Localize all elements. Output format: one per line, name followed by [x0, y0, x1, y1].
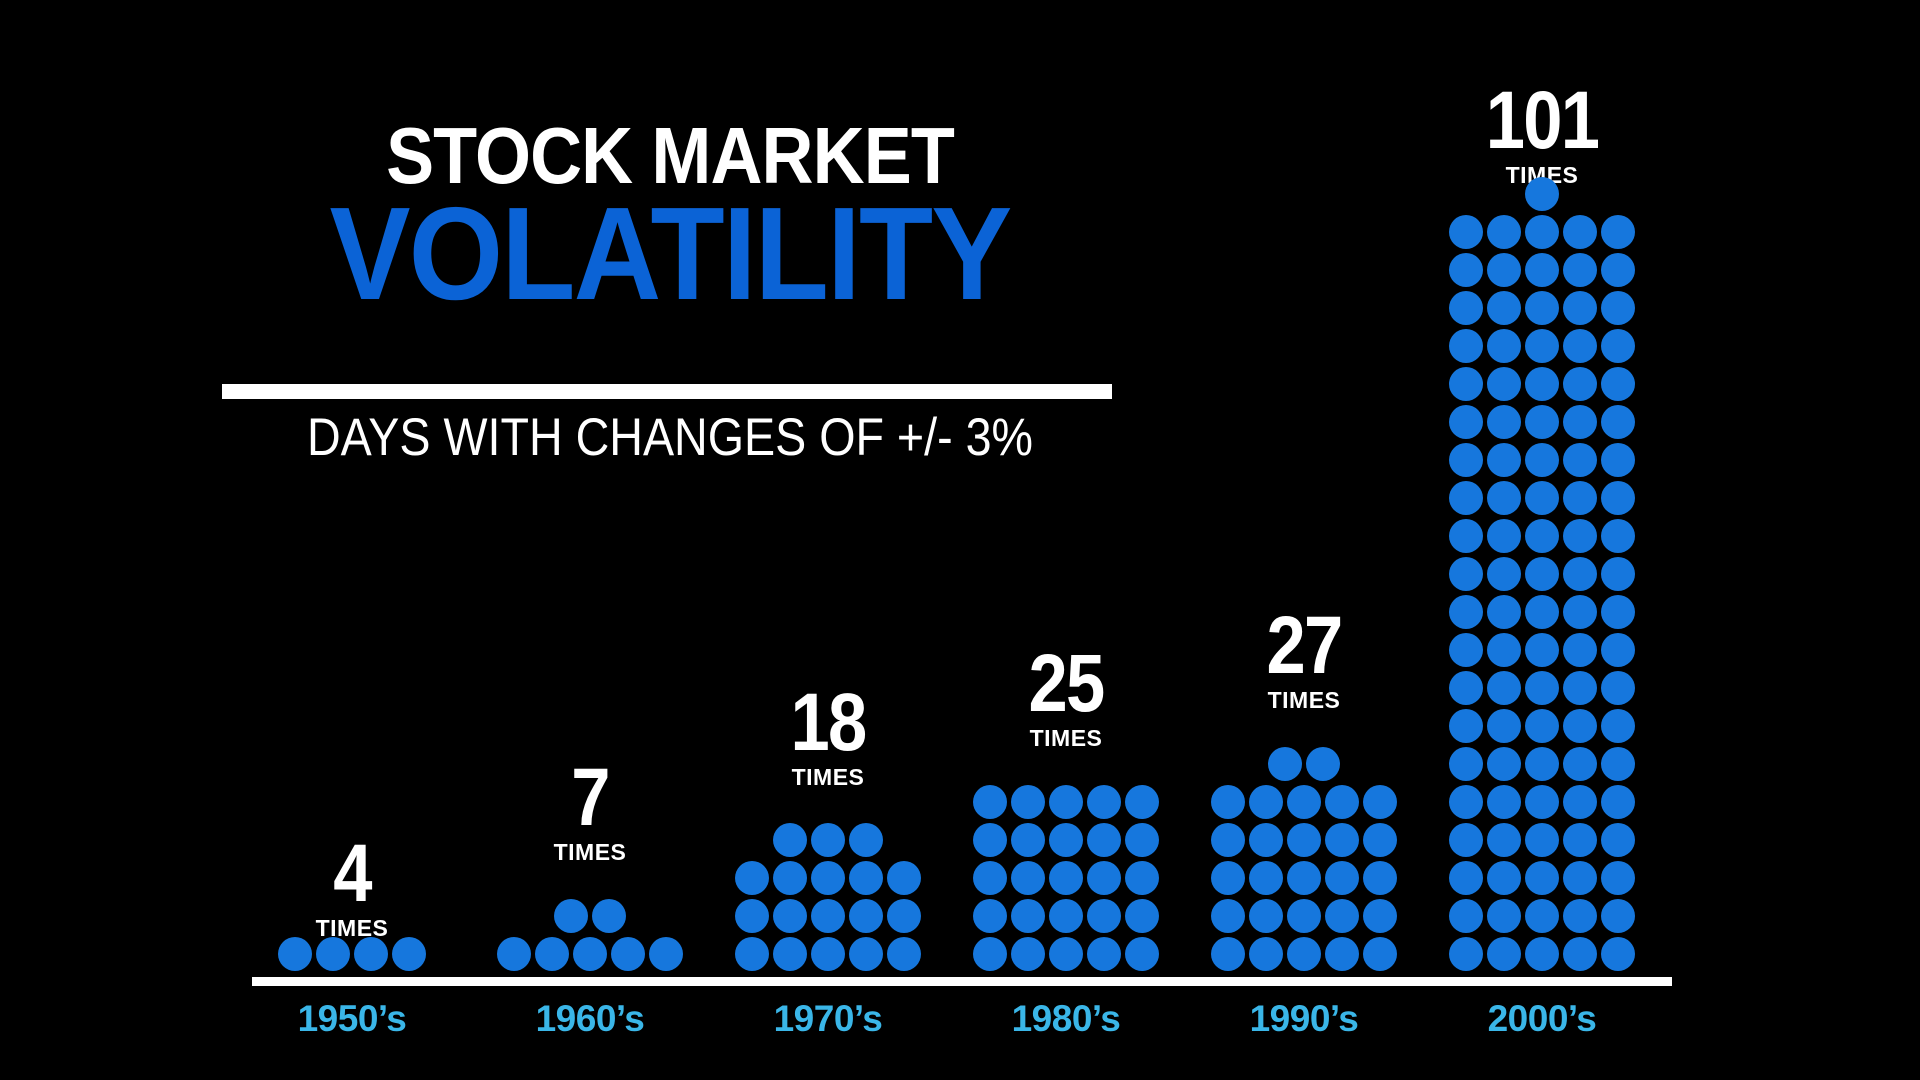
- unit-dot: [1249, 937, 1283, 971]
- dot-row: [1447, 595, 1637, 633]
- dot-row: [1209, 861, 1399, 899]
- dot-row: [1447, 291, 1637, 329]
- unit-dot: [1487, 709, 1521, 743]
- decade-label: 2000’s: [1442, 998, 1642, 1040]
- dot-row: [1209, 823, 1399, 861]
- unit-dot: [1563, 861, 1597, 895]
- unit-dot: [1563, 329, 1597, 363]
- unit-dot: [1487, 519, 1521, 553]
- unit-dot: [1563, 899, 1597, 933]
- unit-dot: [278, 937, 312, 971]
- unit-dot: [1125, 785, 1159, 819]
- unit-dot: [1087, 785, 1121, 819]
- unit-dot: [1525, 253, 1559, 287]
- unit-dot: [1487, 633, 1521, 667]
- unit-dot: [1525, 329, 1559, 363]
- decade-group: 7TIMES1960’s: [490, 0, 690, 1080]
- unit-dot: [1268, 747, 1302, 781]
- unit-dot: [1601, 595, 1635, 629]
- dot-row: [771, 823, 885, 861]
- dot-row: [1447, 899, 1637, 937]
- dot-row: [1447, 785, 1637, 823]
- unit-dot: [1601, 823, 1635, 857]
- unit-dot: [1125, 899, 1159, 933]
- unit-dot: [497, 937, 531, 971]
- dot-row: [1447, 405, 1637, 443]
- unit-dot: [1487, 215, 1521, 249]
- unit-dot: [1011, 937, 1045, 971]
- unit-dot: [973, 785, 1007, 819]
- unit-dot: [1601, 709, 1635, 743]
- decade-count: 27TIMES: [1204, 610, 1404, 716]
- dot-row: [971, 861, 1161, 899]
- unit-dot: [1325, 861, 1359, 895]
- unit-dot: [1363, 861, 1397, 895]
- dot-stack: [1442, 177, 1642, 975]
- unit-dot: [1449, 785, 1483, 819]
- unit-dot: [773, 899, 807, 933]
- unit-dot: [1363, 823, 1397, 857]
- unit-dot: [1601, 443, 1635, 477]
- unit-dot: [1601, 899, 1635, 933]
- count-value: 7: [504, 762, 676, 834]
- unit-dot: [1449, 329, 1483, 363]
- dot-row: [733, 861, 923, 899]
- dot-row: [1447, 519, 1637, 557]
- dot-row: [971, 937, 1161, 975]
- unit-dot: [1287, 785, 1321, 819]
- unit-dot: [849, 823, 883, 857]
- dot-row: [495, 937, 685, 975]
- count-value: 27: [1218, 610, 1390, 682]
- unit-dot: [1563, 481, 1597, 515]
- unit-dot: [1525, 671, 1559, 705]
- decade-group: 25TIMES1980’s: [966, 0, 1166, 1080]
- unit-dot: [1487, 443, 1521, 477]
- unit-dot: [1087, 861, 1121, 895]
- dot-row: [1447, 443, 1637, 481]
- unit-dot: [554, 899, 588, 933]
- dot-row: [1447, 709, 1637, 747]
- unit-dot: [1525, 785, 1559, 819]
- unit-dot: [849, 899, 883, 933]
- decade-label: 1950’s: [252, 998, 452, 1040]
- decade-group: 101TIMES2000’s: [1442, 0, 1642, 1080]
- dot-row: [971, 823, 1161, 861]
- unit-dot: [1011, 785, 1045, 819]
- decade-count: 25TIMES: [966, 648, 1166, 754]
- unit-dot: [1087, 823, 1121, 857]
- unit-dot: [1525, 177, 1559, 211]
- unit-dot: [1487, 405, 1521, 439]
- dot-row: [1447, 253, 1637, 291]
- unit-dot: [1563, 671, 1597, 705]
- dot-row: [1447, 329, 1637, 367]
- unit-dot: [1601, 861, 1635, 895]
- dot-row: [1209, 937, 1399, 975]
- dot-row: [1209, 785, 1399, 823]
- unit-dot: [973, 861, 1007, 895]
- unit-dot: [1487, 481, 1521, 515]
- unit-dot: [1249, 785, 1283, 819]
- unit-dot: [735, 899, 769, 933]
- unit-dot: [1487, 291, 1521, 325]
- unit-dot: [1487, 595, 1521, 629]
- unit-dot: [1211, 861, 1245, 895]
- unit-dot: [1563, 633, 1597, 667]
- unit-dot: [1563, 215, 1597, 249]
- unit-dot: [1563, 823, 1597, 857]
- unit-dot: [1525, 557, 1559, 591]
- pictogram-chart: 4TIMES1950’s7TIMES1960’s18TIMES1970’s25T…: [0, 0, 1920, 1080]
- unit-dot: [1249, 861, 1283, 895]
- dot-stack: [490, 899, 690, 975]
- unit-dot: [1601, 367, 1635, 401]
- unit-dot: [1449, 253, 1483, 287]
- dot-row: [1523, 177, 1561, 215]
- unit-dot: [535, 937, 569, 971]
- dot-row: [1447, 215, 1637, 253]
- decade-group: 18TIMES1970’s: [728, 0, 928, 1080]
- unit-dot: [1525, 405, 1559, 439]
- unit-dot: [1449, 899, 1483, 933]
- unit-dot: [1563, 937, 1597, 971]
- unit-dot: [973, 823, 1007, 857]
- unit-dot: [1325, 785, 1359, 819]
- unit-dot: [1525, 215, 1559, 249]
- unit-dot: [1449, 671, 1483, 705]
- decade-count: 4TIMES: [252, 838, 452, 944]
- unit-dot: [773, 937, 807, 971]
- unit-dot: [1449, 595, 1483, 629]
- unit-dot: [773, 861, 807, 895]
- unit-dot: [1049, 861, 1083, 895]
- unit-dot: [1449, 367, 1483, 401]
- dot-row: [552, 899, 628, 937]
- unit-dot: [1601, 291, 1635, 325]
- unit-dot: [1601, 557, 1635, 591]
- decade-label: 1980’s: [966, 998, 1166, 1040]
- unit-dot: [1049, 823, 1083, 857]
- unit-dot: [1601, 253, 1635, 287]
- unit-dot: [1525, 595, 1559, 629]
- unit-dot: [354, 937, 388, 971]
- dot-row: [1447, 671, 1637, 709]
- unit-dot: [1449, 215, 1483, 249]
- unit-dot: [973, 899, 1007, 933]
- unit-dot: [1011, 861, 1045, 895]
- unit-dot: [1449, 823, 1483, 857]
- unit-dot: [1601, 633, 1635, 667]
- unit-dot: [316, 937, 350, 971]
- dot-row: [1447, 633, 1637, 671]
- decade-label: 1960’s: [490, 998, 690, 1040]
- unit-dot: [1449, 633, 1483, 667]
- unit-dot: [773, 823, 807, 857]
- dot-row: [733, 899, 923, 937]
- unit-dot: [1525, 709, 1559, 743]
- dot-row: [1447, 861, 1637, 899]
- unit-dot: [1449, 747, 1483, 781]
- unit-dot: [592, 899, 626, 933]
- unit-dot: [1325, 937, 1359, 971]
- unit-dot: [1525, 861, 1559, 895]
- unit-dot: [1011, 823, 1045, 857]
- unit-dot: [1525, 747, 1559, 781]
- unit-dot: [1449, 481, 1483, 515]
- unit-dot: [1449, 937, 1483, 971]
- dot-row: [1209, 899, 1399, 937]
- unit-dot: [1287, 823, 1321, 857]
- unit-dot: [1249, 899, 1283, 933]
- unit-dot: [1525, 899, 1559, 933]
- decade-label: 1990’s: [1204, 998, 1404, 1040]
- unit-dot: [887, 899, 921, 933]
- unit-dot: [1449, 861, 1483, 895]
- unit-dot: [1563, 747, 1597, 781]
- unit-dot: [1449, 291, 1483, 325]
- unit-dot: [1487, 937, 1521, 971]
- unit-dot: [1011, 899, 1045, 933]
- unit-dot: [887, 937, 921, 971]
- unit-dot: [1525, 481, 1559, 515]
- unit-dot: [1249, 823, 1283, 857]
- infographic-canvas: STOCK MARKET VOLATILITY DAYS WITH CHANGE…: [0, 0, 1920, 1080]
- unit-dot: [1525, 367, 1559, 401]
- unit-dot: [1525, 519, 1559, 553]
- unit-dot: [1325, 823, 1359, 857]
- dot-row: [1447, 747, 1637, 785]
- unit-dot: [1487, 253, 1521, 287]
- unit-dot: [1363, 899, 1397, 933]
- unit-dot: [1487, 557, 1521, 591]
- dot-stack: [966, 785, 1166, 975]
- unit-dot: [1525, 823, 1559, 857]
- dot-row: [733, 937, 923, 975]
- unit-dot: [735, 937, 769, 971]
- dot-stack: [252, 937, 452, 975]
- unit-dot: [611, 937, 645, 971]
- dot-row: [1447, 823, 1637, 861]
- dot-row: [971, 899, 1161, 937]
- unit-dot: [1487, 861, 1521, 895]
- unit-dot: [1487, 367, 1521, 401]
- dot-row: [276, 937, 428, 975]
- unit-dot: [573, 937, 607, 971]
- dot-row: [1447, 481, 1637, 519]
- dot-stack: [728, 823, 928, 975]
- count-value: 25: [980, 648, 1152, 720]
- unit-dot: [1211, 785, 1245, 819]
- unit-dot: [1601, 405, 1635, 439]
- unit-dot: [1563, 785, 1597, 819]
- unit-dot: [1363, 785, 1397, 819]
- unit-dot: [1449, 519, 1483, 553]
- unit-dot: [1601, 747, 1635, 781]
- decade-group: 27TIMES1990’s: [1204, 0, 1404, 1080]
- unit-dot: [1211, 899, 1245, 933]
- unit-dot: [1601, 671, 1635, 705]
- dot-row: [1266, 747, 1342, 785]
- unit-dot: [1601, 215, 1635, 249]
- decade-label: 1970’s: [728, 998, 928, 1040]
- unit-dot: [1601, 785, 1635, 819]
- unit-dot: [1211, 823, 1245, 857]
- unit-dot: [1601, 519, 1635, 553]
- unit-dot: [1563, 367, 1597, 401]
- unit-dot: [849, 861, 883, 895]
- unit-dot: [1563, 595, 1597, 629]
- unit-dot: [1601, 481, 1635, 515]
- unit-dot: [1211, 937, 1245, 971]
- unit-dot: [1287, 899, 1321, 933]
- unit-dot: [1049, 785, 1083, 819]
- unit-dot: [1087, 937, 1121, 971]
- dot-row: [971, 785, 1161, 823]
- unit-dot: [1449, 443, 1483, 477]
- unit-dot: [1363, 937, 1397, 971]
- unit-dot: [1487, 671, 1521, 705]
- unit-dot: [1287, 861, 1321, 895]
- unit-dot: [1601, 329, 1635, 363]
- dot-stack: [1204, 747, 1404, 975]
- unit-dot: [811, 937, 845, 971]
- count-value: 4: [266, 838, 438, 910]
- unit-dot: [735, 861, 769, 895]
- count-value: 101: [1456, 85, 1628, 157]
- unit-dot: [1525, 443, 1559, 477]
- unit-dot: [1049, 899, 1083, 933]
- decade-count: 18TIMES: [728, 687, 928, 793]
- unit-dot: [1525, 291, 1559, 325]
- unit-dot: [1563, 709, 1597, 743]
- unit-dot: [887, 861, 921, 895]
- unit-dot: [1125, 823, 1159, 857]
- unit-dot: [649, 937, 683, 971]
- unit-dot: [1601, 937, 1635, 971]
- unit-dot: [1449, 557, 1483, 591]
- unit-dot: [1049, 937, 1083, 971]
- unit-dot: [1563, 291, 1597, 325]
- unit-dot: [1306, 747, 1340, 781]
- unit-dot: [1525, 633, 1559, 667]
- unit-dot: [973, 937, 1007, 971]
- count-value: 18: [742, 687, 914, 759]
- unit-dot: [811, 823, 845, 857]
- unit-dot: [811, 899, 845, 933]
- unit-dot: [1449, 405, 1483, 439]
- unit-dot: [1525, 937, 1559, 971]
- unit-dot: [849, 937, 883, 971]
- dot-row: [1447, 367, 1637, 405]
- dot-row: [1447, 557, 1637, 595]
- unit-dot: [1125, 861, 1159, 895]
- decade-group: 4TIMES1950’s: [252, 0, 452, 1080]
- unit-dot: [1487, 823, 1521, 857]
- decade-count: 101TIMES: [1442, 85, 1642, 191]
- unit-dot: [1563, 557, 1597, 591]
- unit-dot: [1125, 937, 1159, 971]
- unit-dot: [1563, 443, 1597, 477]
- unit-dot: [1487, 329, 1521, 363]
- unit-dot: [811, 861, 845, 895]
- unit-dot: [1087, 899, 1121, 933]
- unit-dot: [1487, 899, 1521, 933]
- unit-dot: [1563, 405, 1597, 439]
- unit-dot: [1487, 785, 1521, 819]
- unit-dot: [1449, 709, 1483, 743]
- unit-dot: [1563, 253, 1597, 287]
- dot-row: [1447, 937, 1637, 975]
- unit-dot: [392, 937, 426, 971]
- unit-dot: [1563, 519, 1597, 553]
- unit-dot: [1487, 747, 1521, 781]
- unit-dot: [1325, 899, 1359, 933]
- decade-count: 7TIMES: [490, 762, 690, 868]
- unit-dot: [1287, 937, 1321, 971]
